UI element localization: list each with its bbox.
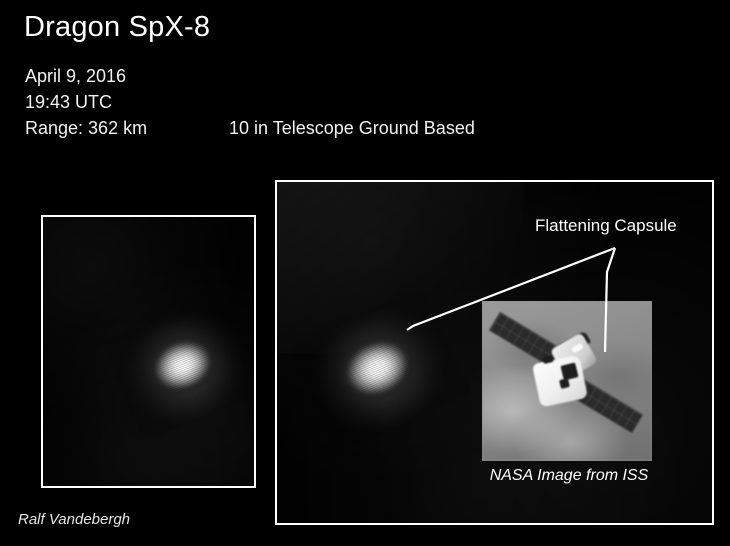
telescope-image-right: Flattening Capsule NASA Image from ISS [275,180,714,525]
inset-caption: NASA Image from ISS [469,467,669,485]
dragon-spacecraft [512,315,624,445]
telescope-image-left [41,215,256,488]
observation-time: 19:43 UTC [25,92,112,113]
telescope-info: 10 in Telescope Ground Based [229,118,475,139]
nasa-inset-image [482,301,652,461]
observation-range: Range: 362 km [25,118,147,139]
spacecraft-blob-right [329,323,431,417]
annotation-label: Flattening Capsule [535,216,677,236]
spacecraft-blob-left [139,325,230,408]
page-title: Dragon SpX-8 [24,11,210,44]
photographer-credit: Ralf Vandebergh [18,511,130,528]
observation-date: April 9, 2016 [25,66,126,87]
slide-canvas: Dragon SpX-8 April 9, 2016 19:43 UTC Ran… [0,0,730,546]
